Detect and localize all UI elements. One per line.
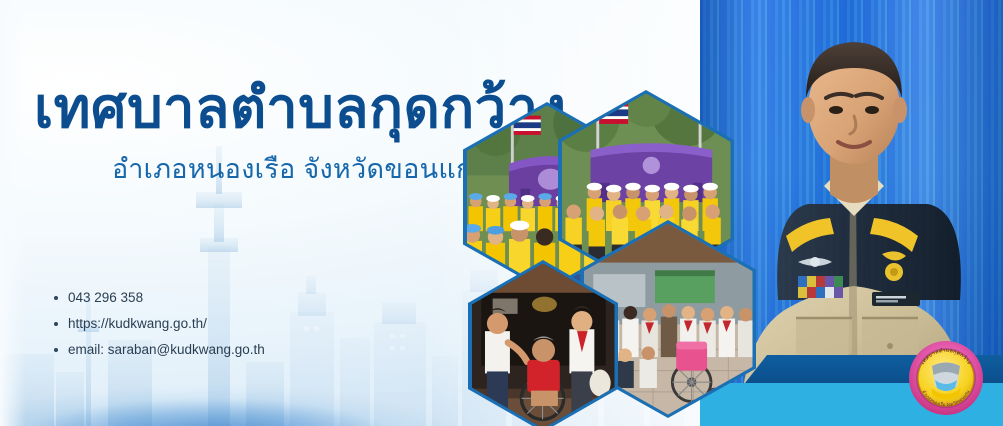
contact-email-label[interactable]: email: saraban@kudkwang.go.th	[68, 342, 265, 357]
contact-item-email[interactable]: email: saraban@kudkwang.go.th	[52, 342, 265, 357]
contact-list: 043 296 358 https://kudkwang.go.th/ emai…	[52, 290, 265, 368]
photo-collage	[340, 80, 760, 400]
site-header-banner: เทศบาลตำบลกุดกว้าง อำเภอหนองเรือ จังหวัด…	[0, 0, 1003, 426]
contact-website-label[interactable]: https://kudkwang.go.th/	[68, 316, 207, 331]
contact-item-website[interactable]: https://kudkwang.go.th/	[52, 316, 265, 331]
contact-item-phone: 043 296 358	[52, 290, 265, 305]
municipality-seal[interactable]: เทศบาลตำบลกุดกว้าง อำเภอหนองเรือ จังหวัด…	[908, 340, 984, 416]
curtain-left-blend	[0, 0, 26, 426]
contact-phone-label: 043 296 358	[68, 290, 143, 305]
